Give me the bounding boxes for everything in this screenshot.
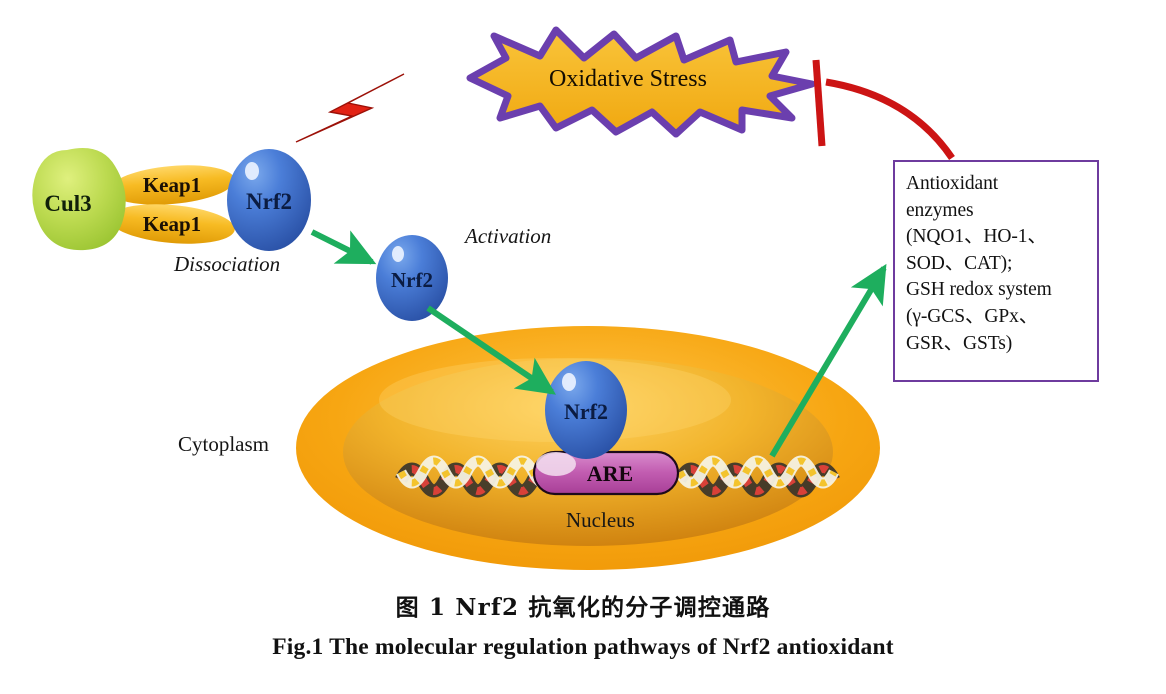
nrf2-free-node: Nrf2 xyxy=(376,235,448,321)
dissociation-label: Dissociation xyxy=(174,252,280,277)
oxidative-stress-burst: Oxidative Stress xyxy=(470,30,812,134)
figure-caption-cn: 图 1 Nrf2 抗氧化的分子调控通路 xyxy=(0,588,1166,622)
inhibition-arrow xyxy=(816,60,952,158)
antioxidant-enzymes-text: Antioxidant enzymes (NQO1、HO-1、 SOD、CAT)… xyxy=(906,171,1089,357)
keap1-bottom-node: Keap1 xyxy=(108,200,237,249)
keap1-bottom-label: Keap1 xyxy=(143,212,201,236)
cul3-label: Cul3 xyxy=(44,191,91,216)
nrf2-bound-highlight xyxy=(245,162,259,180)
are-label: ARE xyxy=(587,461,633,486)
figure-canvas: ARE Nrf2 Nrf2 Keap1 Keap1 xyxy=(0,0,1166,694)
cul3-node: Cul3 xyxy=(32,148,125,250)
nrf2-nucleus-label: Nrf2 xyxy=(564,399,608,424)
nrf2-nucleus-highlight xyxy=(562,373,576,391)
nrf2-nucleus-node: Nrf2 xyxy=(545,361,627,459)
dissociation-arrow xyxy=(312,232,372,262)
are-highlight xyxy=(536,452,576,476)
keap1-top-label: Keap1 xyxy=(143,173,201,197)
oxidative-stress-label: Oxidative Stress xyxy=(549,66,707,92)
cytoplasm-label: Cytoplasm xyxy=(178,432,269,457)
are-element: ARE xyxy=(534,452,678,494)
nrf2-bound-label: Nrf2 xyxy=(246,189,292,214)
nrf2-bound-node: Nrf2 xyxy=(227,149,311,251)
nrf2-free-highlight xyxy=(392,246,404,262)
nucleus-label: Nucleus xyxy=(566,508,635,533)
lightning-bolt-icon xyxy=(296,74,404,142)
keap1-top-node: Keap1 xyxy=(108,161,237,210)
keap1-cul3-nrf2-complex: Keap1 Keap1 Cul3 Nrf2 xyxy=(32,148,311,251)
antioxidant-enzymes-box: Antioxidant enzymes (NQO1、HO-1、 SOD、CAT)… xyxy=(893,160,1099,382)
figure-caption-en: Fig.1 The molecular regulation pathways … xyxy=(0,634,1166,661)
nrf2-free-label: Nrf2 xyxy=(391,268,433,292)
inhibition-tbar xyxy=(816,60,822,146)
activation-label: Activation xyxy=(465,224,551,249)
